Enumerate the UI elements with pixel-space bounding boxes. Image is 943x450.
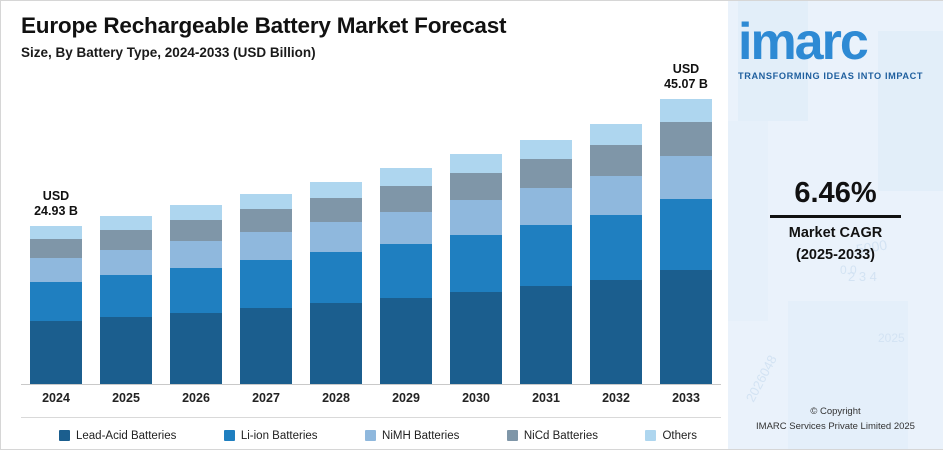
bar-segment bbox=[240, 209, 292, 232]
bar-segment bbox=[660, 199, 712, 270]
bar-segment bbox=[310, 198, 362, 222]
x-tick-2030: 2030 bbox=[446, 391, 506, 405]
bar-segment bbox=[520, 159, 572, 188]
first-bar-annotation: USD 24.93 B bbox=[0, 189, 116, 219]
bar-segment bbox=[590, 215, 642, 280]
bar-2030[interactable] bbox=[450, 154, 502, 384]
legend-item-others[interactable]: Others bbox=[645, 430, 697, 442]
bar-2032[interactable] bbox=[590, 124, 642, 384]
chart-panel: Europe Rechargeable Battery Market Forec… bbox=[1, 1, 728, 449]
bar-segment bbox=[240, 232, 292, 261]
copyright-line-2: IMARC Services Private Limited 2025 bbox=[728, 421, 943, 432]
legend-swatch-icon bbox=[507, 430, 518, 441]
bar-segment bbox=[310, 182, 362, 198]
cagr-label: Market CAGR bbox=[728, 225, 943, 241]
bar-segment bbox=[170, 220, 222, 241]
bar-segment bbox=[380, 168, 432, 185]
bar-2027[interactable] bbox=[240, 194, 292, 384]
cagr-divider bbox=[770, 215, 901, 218]
bar-segment bbox=[30, 226, 82, 239]
bar-segment bbox=[170, 241, 222, 268]
x-tick-2032: 2032 bbox=[586, 391, 646, 405]
bar-segment bbox=[520, 140, 572, 160]
bar-segment bbox=[660, 270, 712, 384]
x-tick-2029: 2029 bbox=[376, 391, 436, 405]
bar-segment bbox=[240, 308, 292, 384]
x-tick-2024: 2024 bbox=[26, 391, 86, 405]
bar-2029[interactable] bbox=[380, 168, 432, 384]
bar-segment bbox=[170, 205, 222, 219]
legend-swatch-icon bbox=[645, 430, 656, 441]
bar-segment bbox=[310, 222, 362, 252]
bar-segment bbox=[240, 194, 292, 209]
legend-label: Lead-Acid Batteries bbox=[76, 430, 176, 442]
bar-2028[interactable] bbox=[310, 182, 362, 384]
x-tick-2031: 2031 bbox=[516, 391, 576, 405]
chart-legend: Lead-Acid BatteriesLi-ion BatteriesNiMH … bbox=[21, 417, 721, 447]
bar-2033[interactable] bbox=[660, 99, 712, 384]
bar-segment bbox=[380, 186, 432, 212]
legend-label: NiMH Batteries bbox=[382, 430, 459, 442]
legend-item-nicd-batteries[interactable]: NiCd Batteries bbox=[507, 430, 598, 442]
bar-segment bbox=[660, 99, 712, 122]
bar-segment bbox=[100, 275, 152, 317]
legend-label: NiCd Batteries bbox=[524, 430, 598, 442]
bar-segment bbox=[450, 154, 502, 172]
page-subtitle: Size, By Battery Type, 2024-2033 (USD Bi… bbox=[21, 45, 316, 60]
x-tick-2027: 2027 bbox=[236, 391, 296, 405]
page-title: Europe Rechargeable Battery Market Forec… bbox=[21, 13, 506, 39]
legend-swatch-icon bbox=[59, 430, 70, 441]
watermark-text: 0.0 bbox=[840, 263, 857, 277]
cagr-period: (2025-2033) bbox=[728, 247, 943, 263]
x-tick-2025: 2025 bbox=[96, 391, 156, 405]
watermark-shape bbox=[728, 121, 768, 321]
bar-segment bbox=[380, 212, 432, 244]
bar-segment bbox=[100, 230, 152, 250]
first-bar-annotation-line1: USD bbox=[0, 189, 116, 204]
bar-segment bbox=[380, 244, 432, 298]
bar-2024[interactable] bbox=[30, 226, 82, 384]
bar-2031[interactable] bbox=[520, 140, 572, 384]
bar-segment bbox=[30, 258, 82, 282]
x-tick-2028: 2028 bbox=[306, 391, 366, 405]
watermark-text: 2026048 bbox=[743, 353, 780, 405]
x-tick-2033: 2033 bbox=[656, 391, 716, 405]
bar-segment bbox=[170, 268, 222, 313]
legend-swatch-icon bbox=[365, 430, 376, 441]
bar-segment bbox=[520, 225, 572, 286]
bar-segment bbox=[590, 176, 642, 215]
bar-segment bbox=[100, 317, 152, 384]
bar-segment bbox=[450, 173, 502, 201]
bar-segment bbox=[310, 303, 362, 384]
bar-segment bbox=[310, 252, 362, 303]
imarc-wordmark: imarc bbox=[738, 15, 934, 69]
imarc-logo: imarc TRANSFORMING IDEAS INTO IMPACT bbox=[738, 15, 934, 81]
x-tick-2026: 2026 bbox=[166, 391, 226, 405]
bar-segment bbox=[590, 280, 642, 384]
x-axis-line bbox=[21, 384, 721, 385]
bar-2025[interactable] bbox=[100, 216, 152, 384]
legend-item-li-ion-batteries[interactable]: Li-ion Batteries bbox=[224, 430, 318, 442]
bar-segment bbox=[30, 321, 82, 384]
copyright-line-1: © Copyright bbox=[728, 406, 943, 417]
legend-item-nimh-batteries[interactable]: NiMH Batteries bbox=[365, 430, 459, 442]
bar-segment bbox=[660, 156, 712, 199]
bar-segment bbox=[380, 298, 432, 384]
bar-segment bbox=[590, 124, 642, 145]
bar-segment bbox=[660, 122, 712, 156]
bar-2026[interactable] bbox=[170, 205, 222, 384]
chart-screenshot: Europe Rechargeable Battery Market Forec… bbox=[0, 0, 943, 450]
bar-segment bbox=[170, 313, 222, 384]
bar-segment bbox=[100, 250, 152, 275]
legend-item-lead-acid-batteries[interactable]: Lead-Acid Batteries bbox=[59, 430, 176, 442]
legend-label: Others bbox=[662, 430, 697, 442]
legend-label: Li-ion Batteries bbox=[241, 430, 318, 442]
bar-segment bbox=[450, 292, 502, 384]
bar-segment bbox=[30, 239, 82, 258]
legend-swatch-icon bbox=[224, 430, 235, 441]
bar-segment bbox=[240, 260, 292, 308]
imarc-tagline: TRANSFORMING IDEAS INTO IMPACT bbox=[738, 71, 934, 81]
branding-panel: 20260482 3 450000.02025 imarc TRANSFORMI… bbox=[728, 1, 943, 449]
cagr-value: 6.46% bbox=[728, 177, 943, 210]
bar-segment bbox=[520, 188, 572, 225]
bar-segment bbox=[520, 286, 572, 384]
watermark-text: 2025 bbox=[878, 331, 905, 345]
bar-segment bbox=[30, 282, 82, 321]
bar-segment bbox=[590, 145, 642, 176]
first-bar-annotation-line2: 24.93 B bbox=[0, 204, 116, 219]
bar-segment bbox=[450, 235, 502, 292]
bar-segment bbox=[450, 200, 502, 234]
